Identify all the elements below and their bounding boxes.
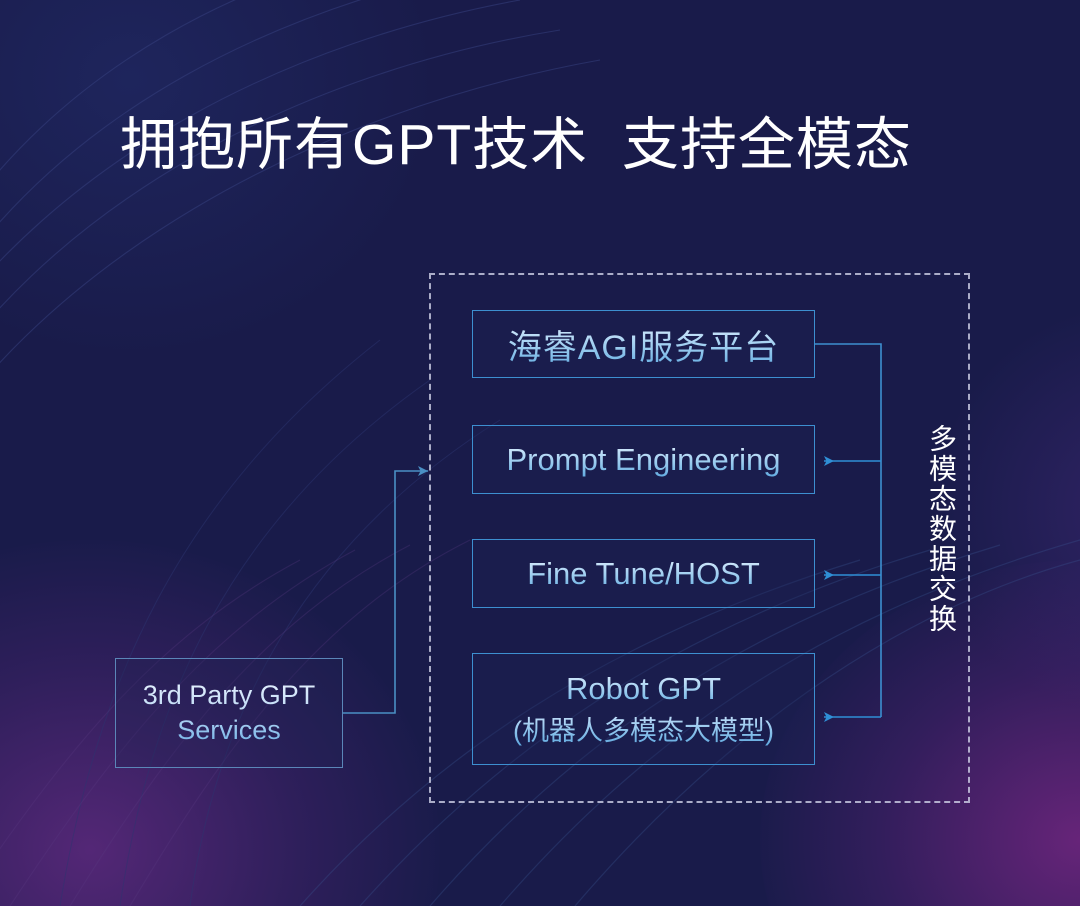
third-party-connector: [343, 471, 428, 713]
third-party-label-line1: 3rd Party GPT: [143, 678, 316, 713]
node-fine-tune-host[interactable]: Fine Tune/HOST: [472, 539, 815, 608]
slide-canvas: 拥抱所有GPT技术 支持全模态 海睿: [0, 0, 1080, 906]
third-party-label-line2: Services: [177, 713, 281, 748]
node-robot-label: Robot GPT: [566, 671, 721, 707]
node-third-party-gpt-services[interactable]: 3rd Party GPT Services: [115, 658, 343, 768]
node-robot-sublabel: (机器人多模态大模型): [513, 709, 774, 748]
node-prompt-label: Prompt Engineering: [507, 442, 781, 478]
node-finetune-label: Fine Tune/HOST: [527, 556, 760, 592]
node-platform-label: 海睿AGI服务平台: [508, 320, 780, 369]
node-robot-gpt[interactable]: Robot GPT (机器人多模态大模型): [472, 653, 815, 765]
node-platform[interactable]: 海睿AGI服务平台: [472, 310, 815, 378]
node-prompt-engineering[interactable]: Prompt Engineering: [472, 425, 815, 494]
vertical-label-multimodal-exchange: 多模态数据交换: [916, 424, 956, 634]
